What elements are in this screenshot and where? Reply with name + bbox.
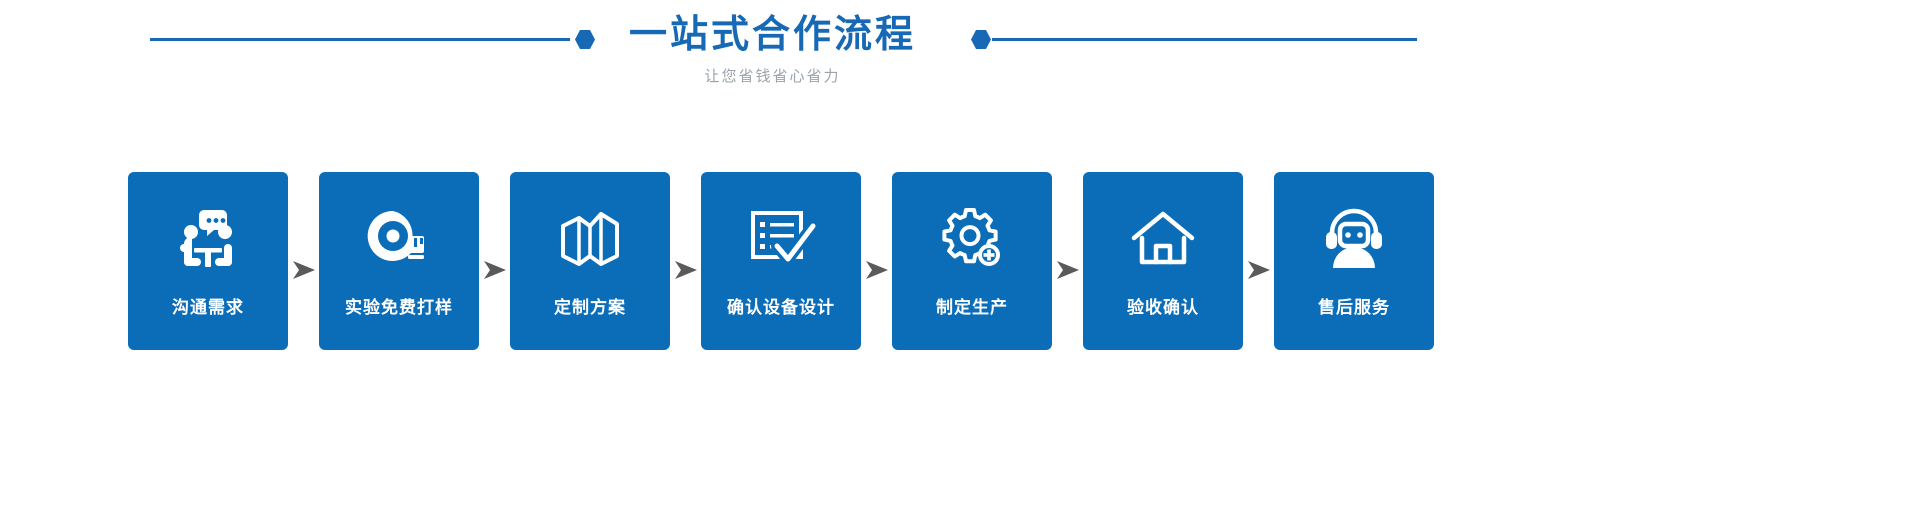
page-root: 一站式合作流程 让您省钱省心省力: [0, 0, 1920, 532]
page-title: 一站式合作流程: [0, 6, 1545, 64]
folded-map-icon: [553, 202, 627, 276]
flow-step-label: 实验免费打样: [345, 296, 453, 320]
process-flow: 沟通需求 实验免费打样: [128, 172, 1434, 350]
checklist-check-icon: [744, 202, 818, 276]
headset-support-icon: [1317, 202, 1391, 276]
tape-measure-icon: [362, 202, 436, 276]
arrow-right-icon: [1243, 257, 1274, 283]
flow-step-custom-plan[interactable]: 定制方案: [510, 172, 670, 350]
arrow-right-icon: [479, 257, 510, 283]
title-block: 一站式合作流程 让您省钱省心省力: [0, 0, 1545, 88]
flow-step-label: 制定生产: [936, 296, 1008, 320]
arrow-right-icon: [861, 257, 892, 283]
house-icon: [1126, 202, 1200, 276]
gear-plus-icon: [935, 202, 1009, 276]
arrow-right-icon: [670, 257, 701, 283]
flow-step-confirm-design[interactable]: 确认设备设计: [701, 172, 861, 350]
section-header: 一站式合作流程 让您省钱省心省力: [0, 0, 1545, 110]
flow-step-acceptance-confirm[interactable]: 验收确认: [1083, 172, 1243, 350]
page-subtitle: 让您省钱省心省力: [0, 66, 1545, 88]
flow-step-label: 定制方案: [554, 296, 626, 320]
flow-step-after-sales-service[interactable]: 售后服务: [1274, 172, 1434, 350]
flow-step-label: 确认设备设计: [727, 296, 835, 320]
flow-step-label: 沟通需求: [172, 296, 244, 320]
arrow-right-icon: [288, 257, 319, 283]
flow-step-production-plan[interactable]: 制定生产: [892, 172, 1052, 350]
meeting-discussion-icon: [171, 202, 245, 276]
flow-step-communicate-requirements[interactable]: 沟通需求: [128, 172, 288, 350]
flow-step-label: 验收确认: [1127, 296, 1199, 320]
flow-step-label: 售后服务: [1318, 296, 1390, 320]
flow-step-free-sample[interactable]: 实验免费打样: [319, 172, 479, 350]
arrow-right-icon: [1052, 257, 1083, 283]
